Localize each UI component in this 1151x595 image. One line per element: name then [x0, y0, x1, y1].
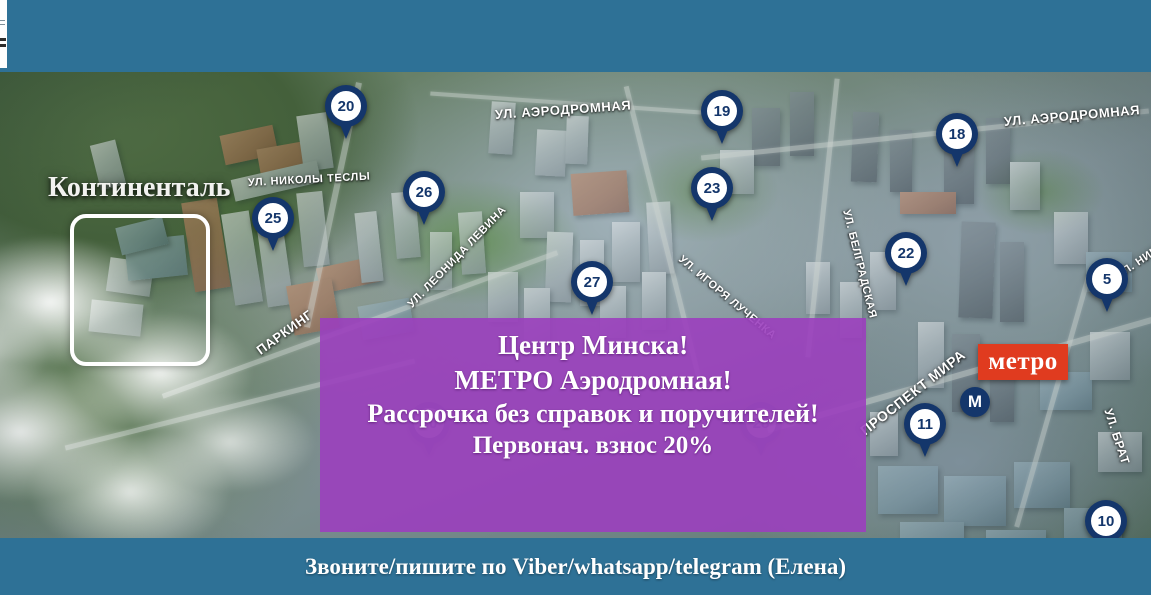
map-pin-23[interactable]: 23 — [691, 167, 733, 221]
map-pin-25[interactable]: 25 — [252, 197, 294, 251]
pin-number: 10 — [1091, 506, 1121, 536]
top-header-bar — [0, 0, 1151, 72]
promo-line-1: Центр Минска! — [320, 328, 866, 363]
pin-number: 19 — [707, 96, 737, 126]
map-pin-18[interactable]: 18 — [936, 113, 978, 167]
metro-logo-icon: М — [960, 387, 990, 417]
pin-number: 22 — [891, 238, 921, 268]
pin-number: 25 — [258, 203, 288, 233]
pin-number: 27 — [577, 267, 607, 297]
map-pin-19[interactable]: 19 — [701, 90, 743, 144]
pin-number: 20 — [331, 91, 361, 121]
map-pin-11[interactable]: 11 — [904, 403, 946, 457]
promo-line-2: МЕТРО Аэродромная! — [320, 363, 866, 398]
header-left-marks — [0, 20, 7, 55]
pin-number: 5 — [1092, 264, 1122, 294]
map-pin-27[interactable]: 27 — [571, 261, 613, 315]
map-pin-5[interactable]: 5 — [1086, 258, 1128, 312]
promo-line-4: Первонач. взнос 20% — [320, 430, 866, 462]
metro-badge-label: метро — [988, 348, 1058, 376]
metro-logo-glyph: М — [968, 392, 982, 412]
continental-label: Континенталь — [48, 172, 230, 204]
map-pin-26[interactable]: 26 — [403, 171, 445, 225]
metro-badge: метро — [978, 344, 1068, 380]
promo-banner: Центр Минска! МЕТРО Аэродромная! Рассроч… — [320, 318, 866, 532]
promo-line-3: Рассрочка без справок и поручителей! — [320, 397, 866, 430]
pin-number: 23 — [697, 173, 727, 203]
footer-bar: Звоните/пишите по Viber/whatsapp/telegra… — [0, 538, 1151, 595]
pin-number: 26 — [409, 177, 439, 207]
map-pin-22[interactable]: 22 — [885, 232, 927, 286]
pin-number: 18 — [942, 119, 972, 149]
map-pin-10[interactable]: 10 — [1085, 500, 1127, 538]
continental-highlight-box — [70, 214, 210, 366]
footer-contact-text: Звоните/пишите по Viber/whatsapp/telegra… — [305, 554, 846, 580]
map-pin-20[interactable]: 20 — [325, 85, 367, 139]
pin-number: 11 — [910, 409, 940, 439]
screenshot-root: Континенталь УЛ. АЭРОДРОМНАЯ УЛ. АЭРОДРО… — [0, 0, 1151, 595]
